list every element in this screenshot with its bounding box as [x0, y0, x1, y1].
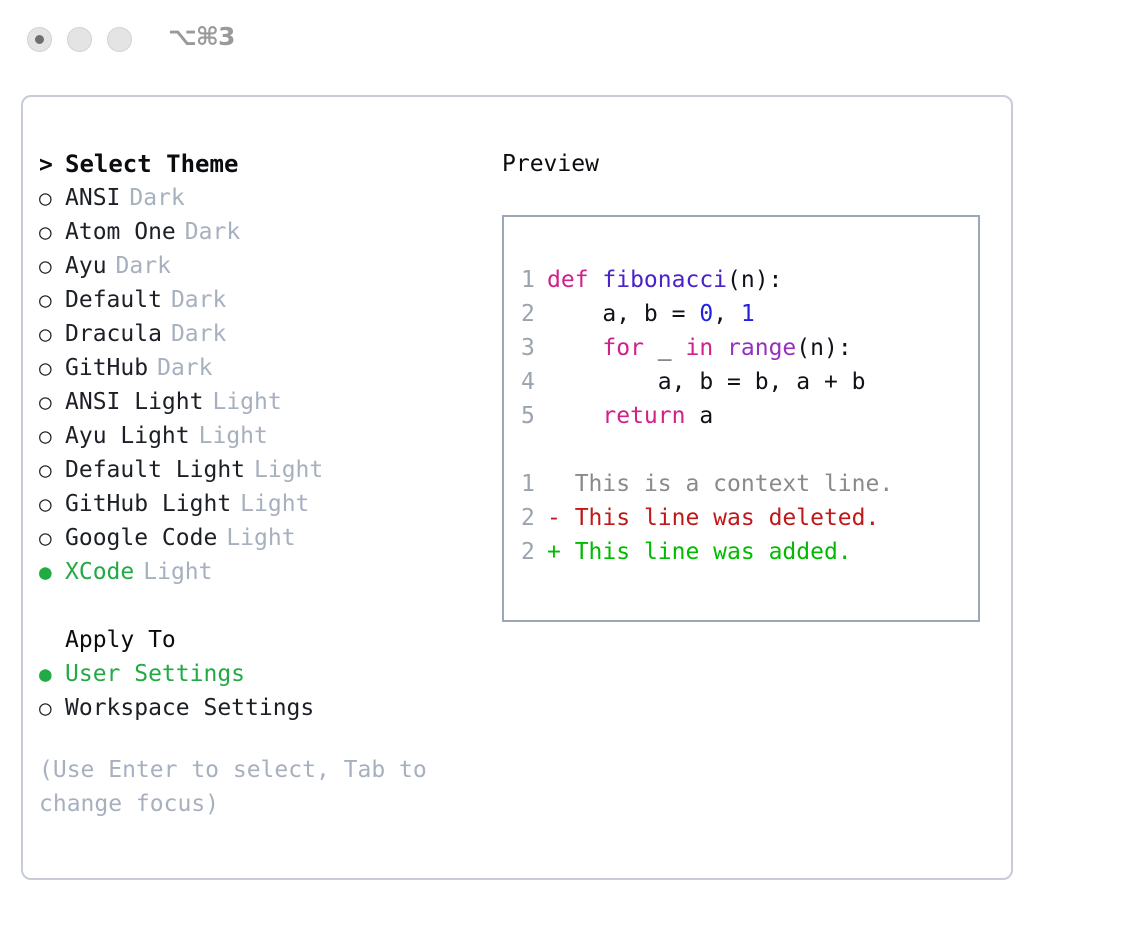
theme-variant-badge: Dark — [171, 287, 226, 313]
radio-selected-icon: ● — [39, 555, 65, 589]
prompt-caret-icon: > — [39, 148, 65, 182]
theme-name: GitHub — [65, 355, 148, 381]
theme-variant-badge: Light — [240, 491, 309, 517]
radio-unselected-icon: ○ — [39, 181, 65, 215]
diff-line: 2+ This line was added. — [521, 535, 972, 569]
record-indicator-icon — [35, 35, 44, 44]
code-line: 2 a, b = 0, 1 — [521, 297, 972, 331]
theme-option-row[interactable]: ○Default LightLight — [39, 453, 489, 487]
theme-name: Default Light — [65, 457, 245, 483]
theme-option-row[interactable]: ○GitHubDark — [39, 351, 489, 385]
preview-box: 1def fibonacci(n):2 a, b = 0, 13 for _ i… — [502, 215, 980, 622]
code-token: return — [602, 403, 685, 429]
app-window: ⌥⌘3 >Select Theme ○ANSIDark○Atom OneDark… — [0, 0, 1140, 934]
theme-selector-column: >Select Theme ○ANSIDark○Atom OneDark○Ayu… — [39, 147, 489, 821]
theme-option-row[interactable]: ○AyuDark — [39, 249, 489, 283]
apply-to-label: Apply To — [39, 623, 489, 657]
theme-list: ○ANSIDark○Atom OneDark○AyuDark○DefaultDa… — [39, 181, 489, 589]
code-token: , — [713, 301, 741, 327]
theme-option-row[interactable]: ○Ayu LightLight — [39, 419, 489, 453]
theme-variant-badge: Dark — [185, 219, 240, 245]
diff-text: This line was deleted. — [575, 505, 880, 531]
preview-title: Preview — [502, 147, 992, 181]
diff-text: This line was added. — [575, 539, 852, 565]
apply-to-list: ●User Settings○Workspace Settings — [39, 657, 489, 725]
code-token: (n): — [796, 335, 851, 361]
diff-text: This is a context line. — [575, 471, 894, 497]
theme-variant-badge: Dark — [129, 185, 184, 211]
theme-variant-badge: Dark — [116, 253, 171, 279]
theme-option-row[interactable]: ●XCodeLight — [39, 555, 489, 589]
radio-unselected-icon: ○ — [39, 453, 65, 487]
title-bar: ⌥⌘3 — [0, 0, 1140, 80]
theme-name: Ayu — [65, 253, 107, 279]
theme-option-row[interactable]: ○ANSIDark — [39, 181, 489, 215]
theme-name: Google Code — [65, 525, 217, 551]
theme-option-row[interactable]: ○DraculaDark — [39, 317, 489, 351]
apply-to-option-label: Workspace Settings — [65, 695, 314, 721]
diff-marker — [547, 471, 575, 497]
code-line: 3 for _ in range(n): — [521, 331, 972, 365]
code-token: a, b = b, a + b — [547, 369, 866, 395]
diff-line: 1 This is a context line. — [521, 467, 972, 501]
code-token — [547, 335, 602, 361]
theme-variant-badge: Light — [254, 457, 323, 483]
code-line: 1def fibonacci(n): — [521, 263, 972, 297]
theme-name: ANSI — [65, 185, 120, 211]
line-number: 5 — [521, 399, 547, 433]
line-number: 1 — [521, 263, 547, 297]
line-number: 2 — [521, 535, 547, 569]
radio-unselected-icon: ○ — [39, 419, 65, 453]
apply-to-option-row[interactable]: ●User Settings — [39, 657, 489, 691]
section-header: >Select Theme — [39, 147, 489, 181]
code-diff-separator — [521, 433, 972, 467]
theme-name: Atom One — [65, 219, 176, 245]
radio-unselected-icon: ○ — [39, 385, 65, 419]
theme-option-row[interactable]: ○Google CodeLight — [39, 521, 489, 555]
radio-unselected-icon: ○ — [39, 249, 65, 283]
page-title: Select Theme — [65, 150, 238, 178]
theme-name: Ayu Light — [65, 423, 190, 449]
diff-line: 2- This line was deleted. — [521, 501, 972, 535]
radio-unselected-icon: ○ — [39, 351, 65, 385]
code-token: 0 — [699, 301, 713, 327]
theme-variant-badge: Light — [212, 389, 281, 415]
code-token: a — [685, 403, 713, 429]
code-token — [547, 403, 602, 429]
theme-variant-badge: Light — [199, 423, 268, 449]
theme-name: Default — [65, 287, 162, 313]
apply-to-option-row[interactable]: ○Workspace Settings — [39, 691, 489, 725]
code-token: def — [547, 267, 602, 293]
radio-unselected-icon: ○ — [39, 487, 65, 521]
theme-name: XCode — [65, 559, 134, 585]
line-number: 2 — [521, 501, 547, 535]
code-token: (n): — [727, 267, 782, 293]
theme-option-row[interactable]: ○ANSI LightLight — [39, 385, 489, 419]
apply-to-option-label: User Settings — [65, 661, 245, 687]
radio-selected-icon: ● — [39, 657, 65, 691]
line-number: 3 — [521, 331, 547, 365]
theme-name: GitHub Light — [65, 491, 231, 517]
theme-option-row[interactable]: ○DefaultDark — [39, 283, 489, 317]
line-number: 2 — [521, 297, 547, 331]
window-dot-record[interactable] — [27, 27, 52, 52]
keyboard-shortcut-label: ⌥⌘3 — [168, 22, 234, 51]
theme-name: ANSI Light — [65, 389, 203, 415]
code-line: 5 return a — [521, 399, 972, 433]
line-number: 1 — [521, 467, 547, 501]
theme-name: Dracula — [65, 321, 162, 347]
code-token: fibonacci — [602, 267, 727, 293]
diff-marker: + — [547, 539, 575, 565]
radio-unselected-icon: ○ — [39, 521, 65, 555]
radio-unselected-icon: ○ — [39, 691, 65, 725]
code-token: for — [602, 335, 644, 361]
keyboard-hint-text: (Use Enter to select, Tab to change focu… — [39, 753, 444, 821]
radio-unselected-icon: ○ — [39, 283, 65, 317]
theme-option-row[interactable]: ○Atom OneDark — [39, 215, 489, 249]
theme-variant-badge: Dark — [171, 321, 226, 347]
list-spacer — [39, 589, 489, 623]
code-token: _ — [644, 335, 686, 361]
radio-unselected-icon: ○ — [39, 215, 65, 249]
code-token: range — [727, 335, 796, 361]
code-sample: 1def fibonacci(n):2 a, b = 0, 13 for _ i… — [521, 263, 972, 569]
window-dot-two[interactable] — [67, 27, 92, 52]
content-panel: >Select Theme ○ANSIDark○Atom OneDark○Ayu… — [21, 95, 1013, 880]
radio-unselected-icon: ○ — [39, 317, 65, 351]
line-number: 4 — [521, 365, 547, 399]
code-token: 1 — [741, 301, 755, 327]
theme-variant-badge: Light — [143, 559, 212, 585]
theme-option-row[interactable]: ○GitHub LightLight — [39, 487, 489, 521]
code-line: 4 a, b = b, a + b — [521, 365, 972, 399]
code-token: a, b = — [547, 301, 699, 327]
window-dot-three[interactable] — [107, 27, 132, 52]
code-token: in — [685, 335, 713, 361]
preview-column: Preview 1def fibonacci(n):2 a, b = 0, 13… — [502, 147, 992, 622]
code-token — [713, 335, 727, 361]
theme-variant-badge: Dark — [157, 355, 212, 381]
diff-marker: - — [547, 505, 575, 531]
theme-variant-badge: Light — [226, 525, 295, 551]
